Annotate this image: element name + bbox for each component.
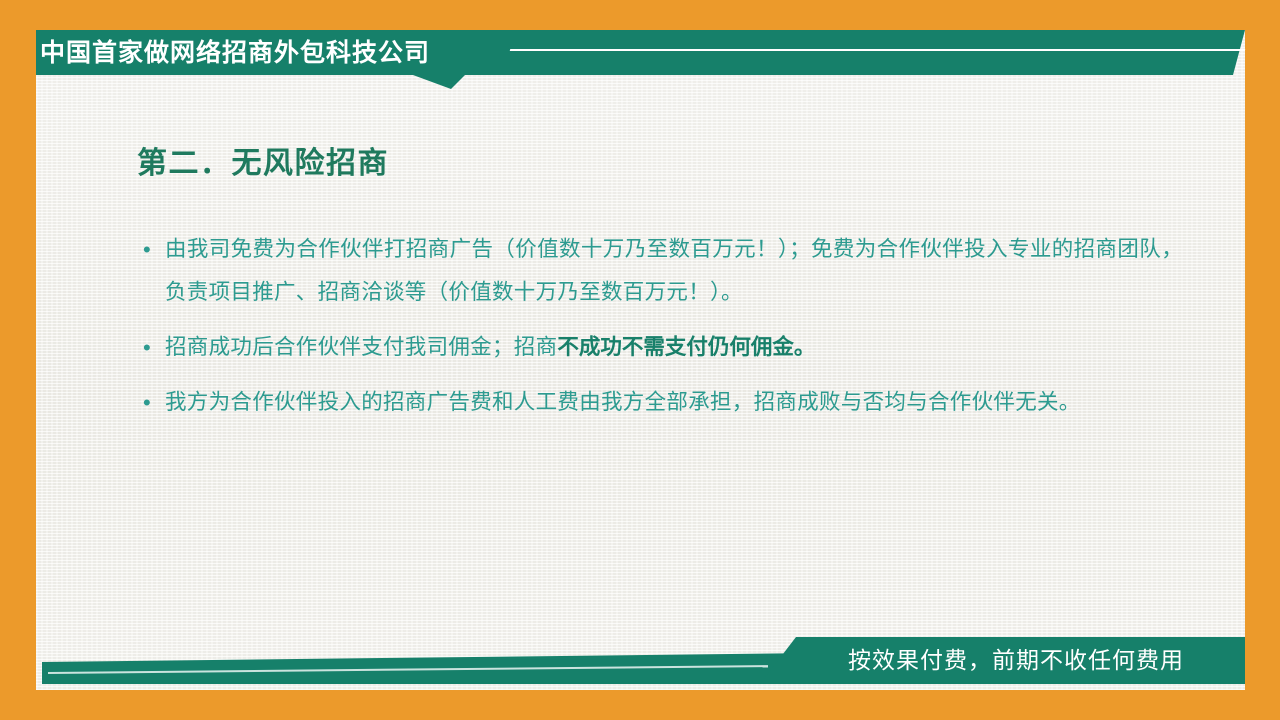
bullet-3-segment-1: 我方为合作伙伴投入的招商广告费和人工费由我方全部承担，招商成败与否均与合作伙伴无… [165, 390, 1081, 415]
bullet-2-segment-1: 招商成功后合作伙伴支付我司佣金；招商 [165, 335, 557, 360]
footer-tagline: 按效果付费，前期不收任何费用 [848, 645, 1184, 677]
bullet-text-1: 由我司免费为合作伙伴打招商广告（价值数十万乃至数百万元！）；免费为合作伙伴投入专… [165, 228, 1183, 314]
bullet-list: • 由我司免费为合作伙伴打招商广告（价值数十万乃至数百万元！）；免费为合作伙伴投… [143, 228, 1183, 436]
bullet-text-2: 招商成功后合作伙伴支付我司佣金；招商不成功不需支付仍何佣金。 [165, 326, 1183, 369]
bullet-item-2: • 招商成功后合作伙伴支付我司佣金；招商不成功不需支付仍何佣金。 [143, 326, 1183, 369]
bullet-text-3: 我方为合作伙伴投入的招商广告费和人工费由我方全部承担，招商成败与否均与合作伙伴无… [165, 381, 1183, 424]
bullet-marker-icon: • [143, 326, 165, 369]
header-banner-title: 中国首家做网络招商外包科技公司 [40, 36, 430, 70]
bullet-item-1: • 由我司免费为合作伙伴打招商广告（价值数十万乃至数百万元！）；免费为合作伙伴投… [143, 228, 1183, 314]
header-divider-line [510, 49, 1246, 51]
bullet-1-segment-1: 由我司免费为合作伙伴打招商广告（价值数十万乃至数百万元！）；免费为合作伙伴投入专… [165, 237, 1183, 305]
bullet-item-3: • 我方为合作伙伴投入的招商广告费和人工费由我方全部承担，招商成败与否均与合作伙… [143, 381, 1183, 424]
bullet-2-emphasis: 不成功不需支付仍何佣金。 [557, 335, 815, 360]
slide-title: 第二．无风险招商 [137, 138, 389, 182]
bullet-marker-icon: • [143, 228, 165, 271]
bullet-marker-icon: • [143, 381, 165, 424]
presentation-slide: 中国首家做网络招商外包科技公司 第二．无风险招商 • 由我司免费为合作伙伴打招商… [0, 0, 1280, 720]
